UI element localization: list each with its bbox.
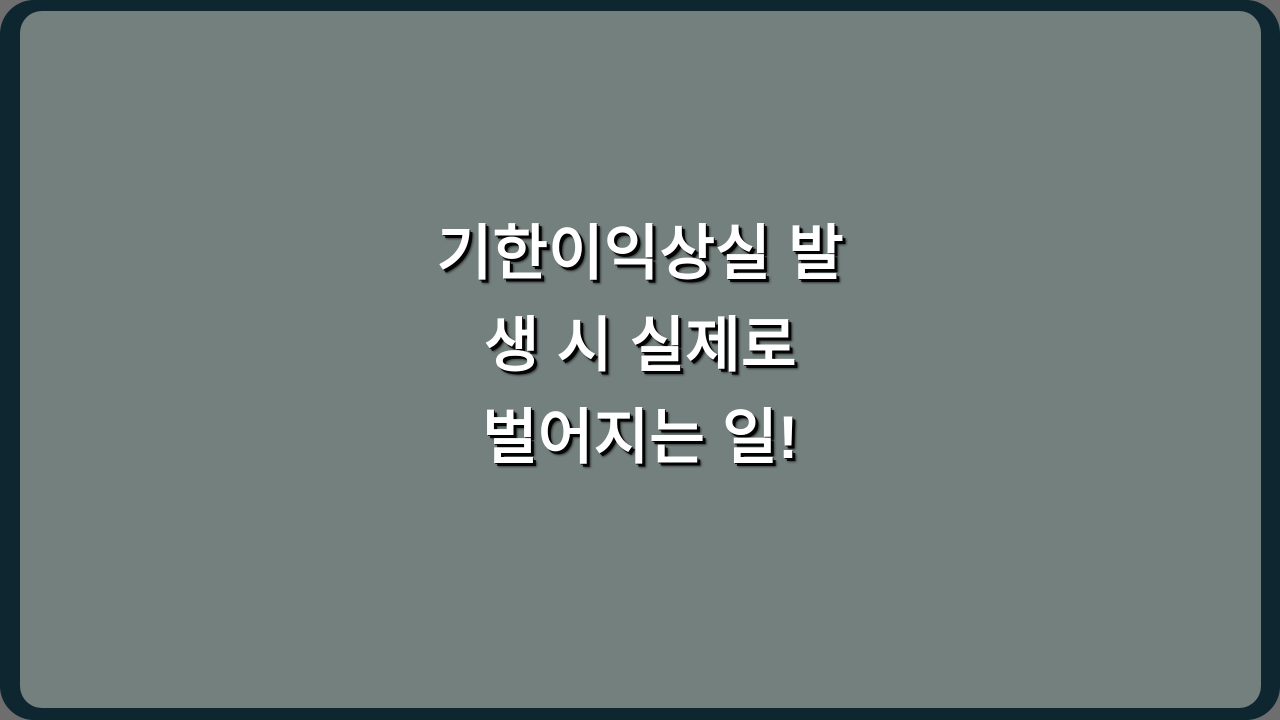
title-line-1: 기한이익상실 발 (20, 208, 1261, 300)
slide-title-block: 기한이익상실 발 생 시 실제로 벌어지는 일! (20, 208, 1261, 484)
slide-frame-border: 기한이익상실 발 생 시 실제로 벌어지는 일! (0, 0, 1280, 720)
title-line-2: 생 시 실제로 (20, 300, 1261, 392)
title-line-3: 벌어지는 일! (20, 392, 1261, 484)
slide-stage: 기한이익상실 발 생 시 실제로 벌어지는 일! (0, 0, 1280, 720)
slide-panel: 기한이익상실 발 생 시 실제로 벌어지는 일! (20, 11, 1261, 708)
